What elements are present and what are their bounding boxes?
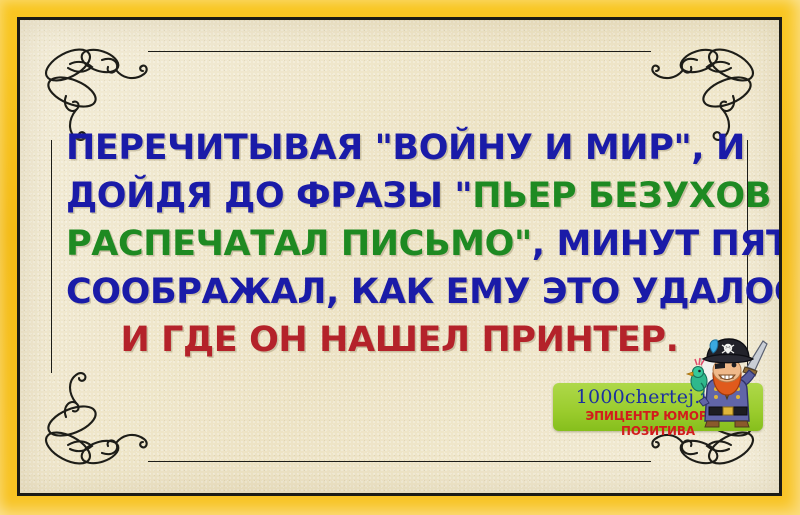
joke-segment: СООБРАЖАЛ, КАК ЕМУ ЭТО УДАЛОСЬ: [66, 272, 782, 312]
joke-segment: ПЬЕР БЕЗУХОВ: [472, 176, 771, 216]
flourish-ornament-bottom-left: [28, 363, 160, 485]
joke-segment: И ГДЕ ОН НАШЕЛ ПРИНТЕР.: [120, 320, 678, 360]
joke-line-1: ПЕРЕЧИТЫВАЯ "ВОЙНУ И МИР", И: [66, 124, 733, 172]
joke-poster: ПЕРЕЧИТЫВАЯ "ВОЙНУ И МИР", И ДОЙДЯ ДО ФР…: [0, 0, 800, 515]
joke-line-2: ДОЙДЯ ДО ФРАЗЫ "ПЬЕР БЕЗУХОВ: [66, 172, 733, 220]
rule-bottom: [148, 461, 651, 462]
joke-segment: , МИНУТ ПЯТЬ: [532, 224, 782, 264]
paper-panel: ПЕРЕЧИТЫВАЯ "ВОЙНУ И МИР", И ДОЙДЯ ДО ФР…: [17, 17, 782, 496]
joke-line-3: РАСПЕЧАТАЛ ПИСЬМО", МИНУТ ПЯТЬ: [66, 220, 733, 268]
joke-line-4: СООБРАЖАЛ, КАК ЕМУ ЭТО УДАЛОСЬ: [66, 268, 733, 316]
rule-top: [148, 51, 651, 52]
joke-text: ПЕРЕЧИТЫВАЯ "ВОЙНУ И МИР", И ДОЙДЯ ДО ФР…: [20, 124, 779, 364]
pirate-mascot-icon: [685, 337, 771, 429]
joke-line-5: И ГДЕ ОН НАШЕЛ ПРИНТЕР.: [66, 316, 733, 364]
joke-segment: ПЕРЕЧИТЫВАЯ "ВОЙНУ И МИР", И: [66, 128, 745, 168]
joke-segment: ДОЙДЯ ДО ФРАЗЫ ": [66, 176, 472, 216]
watermark-logo[interactable]: 1000chertej.ru ЭПИЦЕНТР ЮМОРА И ПОЗИТИВА: [553, 383, 771, 431]
joke-segment: РАСПЕЧАТАЛ ПИСЬМО": [66, 224, 532, 264]
